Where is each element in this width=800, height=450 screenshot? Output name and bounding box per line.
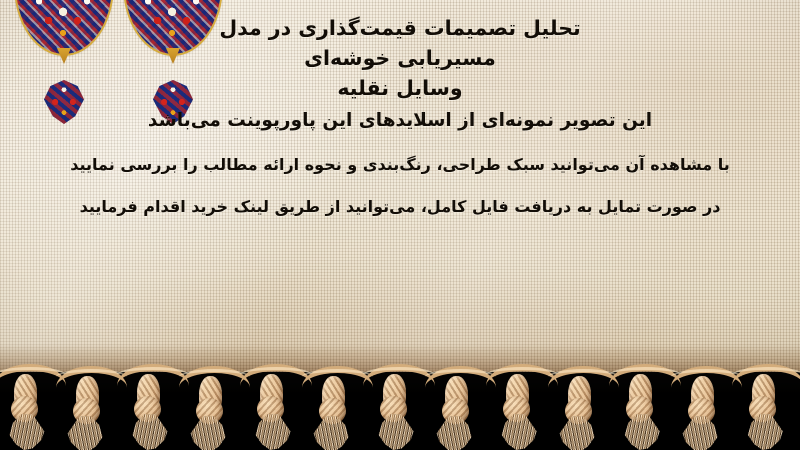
slide-body-line-2: با مشاهده آن می‌توانید سبک طراحی، رنگ‌بن… [70, 157, 730, 173]
slide-title-line: وسایل نقلیه [180, 74, 620, 104]
fringe-tuft [187, 416, 233, 450]
fringe-tuft [2, 414, 48, 450]
slide-title: تحلیل تصمیمات قیمت‌گذاری در مدل مسیریابی… [180, 14, 620, 104]
fringe-tuft [64, 416, 110, 450]
slide-text-layer: تحلیل تصمیمات قیمت‌گذاری در مدل مسیریابی… [0, 0, 800, 378]
fringe-tuft [679, 416, 725, 450]
fringe-tuft [248, 414, 294, 450]
slide-body: این تصویر نمونه‌ای از اسلایدهای این پاور… [70, 112, 730, 215]
slide-title-line: تحلیل تصمیمات قیمت‌گذاری در مدل مسیریابی… [180, 14, 620, 74]
fringe-tuft [556, 416, 602, 450]
presentation-slide: تحلیل تصمیمات قیمت‌گذاری در مدل مسیریابی… [0, 0, 800, 450]
fringe-tuft [371, 414, 417, 450]
fringe-tuft [433, 416, 479, 450]
fringe-tuft [617, 414, 663, 450]
fringe-tuft [310, 416, 356, 450]
fringe-tuft [740, 414, 786, 450]
slide-body-line-3: در صورت تمایل به دریافت فایل کامل، می‌تو… [70, 199, 730, 215]
slide-body-line-1: این تصویر نمونه‌ای از اسلایدهای این پاور… [70, 112, 730, 131]
fringe-tuft [125, 414, 171, 450]
fringe-tuft [494, 414, 540, 450]
